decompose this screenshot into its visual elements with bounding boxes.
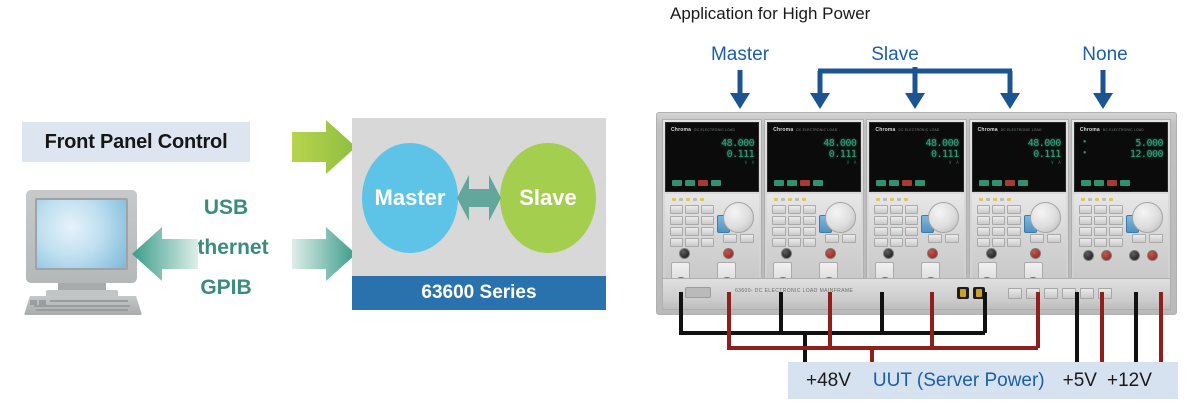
module-control-panel-5[interactable] <box>1074 194 1168 279</box>
module-readout-5: 5.000 12.000 <box>1075 138 1163 160</box>
module-brand-2: Chroma DC ELECTRONIC LOAD <box>773 127 837 133</box>
status-led <box>1120 180 1130 186</box>
status-led-row-5 <box>1081 180 1130 186</box>
status-led <box>902 180 912 186</box>
brand-name: Chroma <box>671 127 691 133</box>
keypad-key[interactable] <box>803 216 816 225</box>
keypad-key[interactable] <box>977 227 990 236</box>
function-key[interactable] <box>928 234 942 243</box>
arrow-head-slave-3 <box>1000 93 1020 109</box>
ch1-jack-positive[interactable] <box>1101 250 1112 261</box>
function-key-row[interactable] <box>723 234 754 243</box>
keypad-key[interactable] <box>788 216 801 225</box>
zone-pointer-arrows <box>640 0 1190 120</box>
keypad-key[interactable] <box>992 216 1005 225</box>
indicator-row <box>774 198 806 201</box>
protocol-usb: USB <box>160 188 292 228</box>
module-readout-1: 48.000 0.111 V A <box>666 138 754 166</box>
arrow-head-master <box>730 93 750 109</box>
brand-subtitle: DC ELECTRONIC LOAD <box>796 128 837 132</box>
status-led-row-1 <box>672 180 721 186</box>
power-socket-right[interactable] <box>973 287 985 299</box>
keypad-key[interactable] <box>670 216 683 225</box>
sense-jack-positive[interactable] <box>723 248 734 259</box>
module-display-1: Chroma DC ELECTRONIC LOAD 48.000 0.111 V… <box>665 122 759 192</box>
readout-current: 0.111 <box>870 149 958 160</box>
terminal-row-2 <box>767 246 861 266</box>
slave-ellipse: Slave <box>500 143 596 253</box>
brand-subtitle: DC ELECTRONIC LOAD <box>694 128 735 132</box>
status-led-row-2 <box>774 180 823 186</box>
rack-footer-key[interactable] <box>1080 288 1094 299</box>
sense-jack-negative[interactable] <box>781 248 792 259</box>
series-label: 63600 Series <box>421 282 536 304</box>
keypad-key[interactable] <box>1094 227 1107 236</box>
module-readout-2: 48.000 0.111 V A <box>768 138 856 166</box>
readout-channel-2: 12.000 <box>1075 149 1163 160</box>
brand-subtitle: DC ELECTRONIC LOAD <box>1103 128 1144 132</box>
status-led <box>774 180 784 186</box>
status-led-row-4 <box>979 180 1028 186</box>
rotary-knob[interactable] <box>1132 202 1163 233</box>
keyboard-row <box>36 309 128 311</box>
module-display-4: Chroma DC ELECTRONIC LOAD 48.000 0.111 V… <box>972 122 1066 192</box>
arrow-head-slave-1 <box>810 93 830 109</box>
status-led <box>992 180 1002 186</box>
readout-voltage: 48.000 <box>768 138 856 149</box>
function-key[interactable] <box>1132 234 1146 243</box>
monitor-case <box>26 190 137 283</box>
function-key[interactable] <box>945 234 959 243</box>
master-ellipse: Master <box>362 143 458 253</box>
rack-model-text: 63600- DC ELECTRONIC LOAD MAINFRAME <box>735 288 853 294</box>
sense-jack-positive[interactable] <box>927 248 938 259</box>
keypad-key[interactable] <box>670 205 683 214</box>
keypad-key[interactable] <box>992 205 1005 214</box>
keypad-key[interactable] <box>701 227 714 236</box>
keypad-key[interactable] <box>701 216 714 225</box>
function-key[interactable] <box>1149 234 1163 243</box>
ch1-jack-negative[interactable] <box>1083 250 1094 261</box>
brand-subtitle: DC ELECTRONIC LOAD <box>1001 128 1042 132</box>
keypad-key[interactable] <box>905 216 918 225</box>
brand-name: Chroma <box>875 127 895 133</box>
sense-jack-positive[interactable] <box>1030 248 1041 259</box>
status-led <box>876 180 886 186</box>
module-readout-3: 48.000 0.111 V A <box>870 138 958 166</box>
keypad-key[interactable] <box>772 216 785 225</box>
function-key[interactable] <box>842 234 856 243</box>
module-keypad[interactable] <box>670 205 714 247</box>
keypad-key[interactable] <box>874 216 887 225</box>
keyboard-icon <box>24 296 142 315</box>
keypad-key[interactable] <box>890 227 903 236</box>
keypad-key[interactable] <box>1007 227 1020 236</box>
readout-current: 0.111 <box>973 149 1061 160</box>
instrument-rack: Chroma DC ELECTRONIC LOAD 48.000 0.111 V… <box>656 112 1177 315</box>
keypad-key[interactable] <box>992 227 1005 236</box>
brand-name: Chroma <box>1080 127 1100 133</box>
teal-arrow-left-icon <box>128 225 200 283</box>
load-module-4[interactable]: Chroma DC ELECTRONIC LOAD 48.000 0.111 V… <box>969 119 1069 282</box>
rotary-knob[interactable] <box>928 202 959 233</box>
terminal-row-5 <box>1074 246 1168 266</box>
module-keypad[interactable] <box>772 205 816 247</box>
keypad-key[interactable] <box>977 205 990 214</box>
module-keypad[interactable] <box>1079 205 1123 247</box>
rack-footer-key-row[interactable] <box>1008 288 1112 299</box>
rack-module-list: Chroma DC ELECTRONIC LOAD 48.000 0.111 V… <box>662 119 1171 282</box>
brand-subtitle: DC ELECTRONIC LOAD <box>899 128 940 132</box>
keypad-key[interactable] <box>1094 216 1107 225</box>
readout-current: 0.111 <box>768 149 856 160</box>
diagram-canvas: Front Panel Control USB Ethernet GPIB <box>0 0 1190 407</box>
device-body: Master Slave <box>352 118 606 276</box>
keypad-key[interactable] <box>1007 205 1020 214</box>
sense-jack-negative[interactable] <box>986 248 997 259</box>
status-led <box>1081 180 1091 186</box>
module-display-2: Chroma DC ELECTRONIC LOAD 48.000 0.111 V… <box>767 122 861 192</box>
keypad-key[interactable] <box>670 227 683 236</box>
keypad-key[interactable] <box>803 205 816 214</box>
module-display-5: Chroma DC ELECTRONIC LOAD ● ● 5.000 12.0… <box>1074 122 1168 192</box>
slave-label: Slave <box>519 185 577 211</box>
arrow-head-slave-2 <box>905 93 925 109</box>
readout-voltage: 48.000 <box>666 138 754 149</box>
function-key[interactable] <box>740 234 754 243</box>
ch2-jack-positive[interactable] <box>1147 250 1158 261</box>
teal-arrow-right-icon <box>290 225 358 283</box>
keypad-key[interactable] <box>685 227 698 236</box>
status-led <box>813 180 823 186</box>
front-panel-control-diagram: Front Panel Control USB Ethernet GPIB <box>0 0 640 407</box>
module-keypad[interactable] <box>977 205 1021 247</box>
keypad-key[interactable] <box>1109 227 1122 236</box>
keypad-key[interactable] <box>685 216 698 225</box>
keypad-key[interactable] <box>1094 205 1107 214</box>
keypad-key[interactable] <box>685 205 698 214</box>
keypad-key[interactable] <box>788 227 801 236</box>
function-key[interactable] <box>825 234 839 243</box>
keyboard-row <box>34 305 130 307</box>
indicator-row <box>672 198 704 201</box>
function-key-row[interactable] <box>1132 234 1163 243</box>
keypad-key[interactable] <box>890 205 903 214</box>
terminal-row-3 <box>869 246 963 266</box>
rack-footer: 63600- DC ELECTRONIC LOAD MAINFRAME <box>662 278 1171 310</box>
keypad-key[interactable] <box>977 216 990 225</box>
device-block: Master Slave 63600 Series <box>352 118 606 310</box>
status-led <box>915 180 925 186</box>
module-display-3: Chroma DC ELECTRONIC LOAD 48.000 0.111 V… <box>869 122 963 192</box>
keypad-key[interactable] <box>701 205 714 214</box>
function-key-row[interactable] <box>825 234 856 243</box>
status-led <box>800 180 810 186</box>
rotary-knob[interactable] <box>825 202 856 233</box>
module-control-panel-2[interactable] <box>767 194 861 279</box>
status-led <box>698 180 708 186</box>
green-arrow-right-icon <box>290 118 358 176</box>
module-brand-3: Chroma DC ELECTRONIC LOAD <box>875 127 939 133</box>
load-module-3[interactable]: Chroma DC ELECTRONIC LOAD 48.000 0.111 V… <box>866 119 966 282</box>
readout-voltage: 48.000 <box>870 138 958 149</box>
load-module-5[interactable]: Chroma DC ELECTRONIC LOAD ● ● 5.000 12.0… <box>1071 119 1171 282</box>
front-panel-control-label-box: Front Panel Control <box>22 122 250 162</box>
front-panel-control-label: Front Panel Control <box>45 131 228 154</box>
rack-footer-key[interactable] <box>1044 288 1058 299</box>
keypad-key[interactable] <box>890 216 903 225</box>
device-series-bar: 63600 Series <box>352 276 606 310</box>
status-led <box>1005 180 1015 186</box>
keypad-key[interactable] <box>803 227 816 236</box>
function-key-row[interactable] <box>1030 234 1061 243</box>
rotary-knob[interactable] <box>723 202 754 233</box>
status-led <box>1018 180 1028 186</box>
voltage-label-5v: +5V <box>1063 370 1097 392</box>
keypad-key[interactable] <box>1079 227 1092 236</box>
readout-units: V A <box>768 160 856 166</box>
readout-current: 0.111 <box>666 149 754 160</box>
status-led <box>787 180 797 186</box>
keyboard-row <box>50 300 128 302</box>
keypad-key[interactable] <box>1109 216 1122 225</box>
status-led <box>889 180 899 186</box>
rack-footer-key[interactable] <box>1098 288 1112 299</box>
status-led <box>685 180 695 186</box>
master-label: Master <box>375 185 446 211</box>
module-readout-4: 48.000 0.111 V A <box>973 138 1061 166</box>
rack-logo-badge <box>685 287 711 298</box>
voltage-label-48v: +48V <box>806 370 851 392</box>
status-led-row-3 <box>876 180 925 186</box>
sense-jack-negative[interactable] <box>883 248 894 259</box>
indicator-row <box>1081 198 1113 201</box>
keypad-key[interactable] <box>905 205 918 214</box>
keypad-key[interactable] <box>772 227 785 236</box>
status-led <box>1094 180 1104 186</box>
teal-double-arrow-icon <box>456 170 502 226</box>
module-keypad[interactable] <box>874 205 918 247</box>
readout-units: V A <box>973 160 1061 166</box>
module-brand-4: Chroma DC ELECTRONIC LOAD <box>978 127 1042 133</box>
sense-jack-positive[interactable] <box>825 248 836 259</box>
brand-name: Chroma <box>978 127 998 133</box>
load-module-2[interactable]: Chroma DC ELECTRONIC LOAD 48.000 0.111 V… <box>764 119 864 282</box>
module-control-panel-4[interactable] <box>972 194 1066 279</box>
readout-units: V A <box>666 160 754 166</box>
load-module-1[interactable]: Chroma DC ELECTRONIC LOAD 48.000 0.111 V… <box>662 119 762 282</box>
keypad-key[interactable] <box>1109 205 1122 214</box>
module-control-panel-1[interactable] <box>665 194 759 279</box>
status-led <box>672 180 682 186</box>
keypad-key[interactable] <box>905 227 918 236</box>
status-led <box>711 180 721 186</box>
voltage-label-uut: UUT (Server Power) <box>873 370 1045 392</box>
rotary-knob[interactable] <box>1030 202 1061 233</box>
rack-footer-key[interactable] <box>1008 288 1022 299</box>
readout-units: V A <box>870 160 958 166</box>
status-led <box>1107 180 1117 186</box>
readout-voltage: 48.000 <box>973 138 1061 149</box>
indicator-row <box>876 198 908 201</box>
keypad-key[interactable] <box>788 205 801 214</box>
module-brand-1: Chroma DC ELECTRONIC LOAD <box>671 127 735 133</box>
function-key-row[interactable] <box>928 234 959 243</box>
keypad-key[interactable] <box>1079 205 1092 214</box>
arrow-head-none <box>1093 93 1113 109</box>
keypad-key[interactable] <box>1079 216 1092 225</box>
terminal-row-1 <box>665 246 759 266</box>
rack-footer-key[interactable] <box>1026 288 1040 299</box>
keypad-key[interactable] <box>1007 216 1020 225</box>
keypad-key[interactable] <box>772 205 785 214</box>
readout-channel-1: 5.000 <box>1075 138 1163 149</box>
module-brand-5: Chroma DC ELECTRONIC LOAD <box>1080 127 1144 133</box>
keypad-key[interactable] <box>874 205 887 214</box>
voltage-label-bar: +48V UUT (Server Power) +5V +12V <box>788 362 1178 399</box>
module-control-panel-3[interactable] <box>869 194 963 279</box>
high-power-application-diagram: Application for High Power Master Slave … <box>640 0 1190 407</box>
power-socket-left[interactable] <box>957 287 969 299</box>
sense-jack-negative[interactable] <box>679 248 690 259</box>
ch2-jack-negative[interactable] <box>1129 250 1140 261</box>
function-key[interactable] <box>723 234 737 243</box>
rack-footer-key[interactable] <box>1062 288 1076 299</box>
function-key[interactable] <box>1030 234 1044 243</box>
monitor-screen <box>37 200 126 268</box>
terminal-row-4 <box>972 246 1066 266</box>
status-led <box>979 180 989 186</box>
brand-name: Chroma <box>773 127 793 133</box>
keypad-key[interactable] <box>874 227 887 236</box>
function-key[interactable] <box>1047 234 1061 243</box>
indicator-row <box>979 198 1011 201</box>
voltage-label-12v: +12V <box>1107 370 1152 392</box>
